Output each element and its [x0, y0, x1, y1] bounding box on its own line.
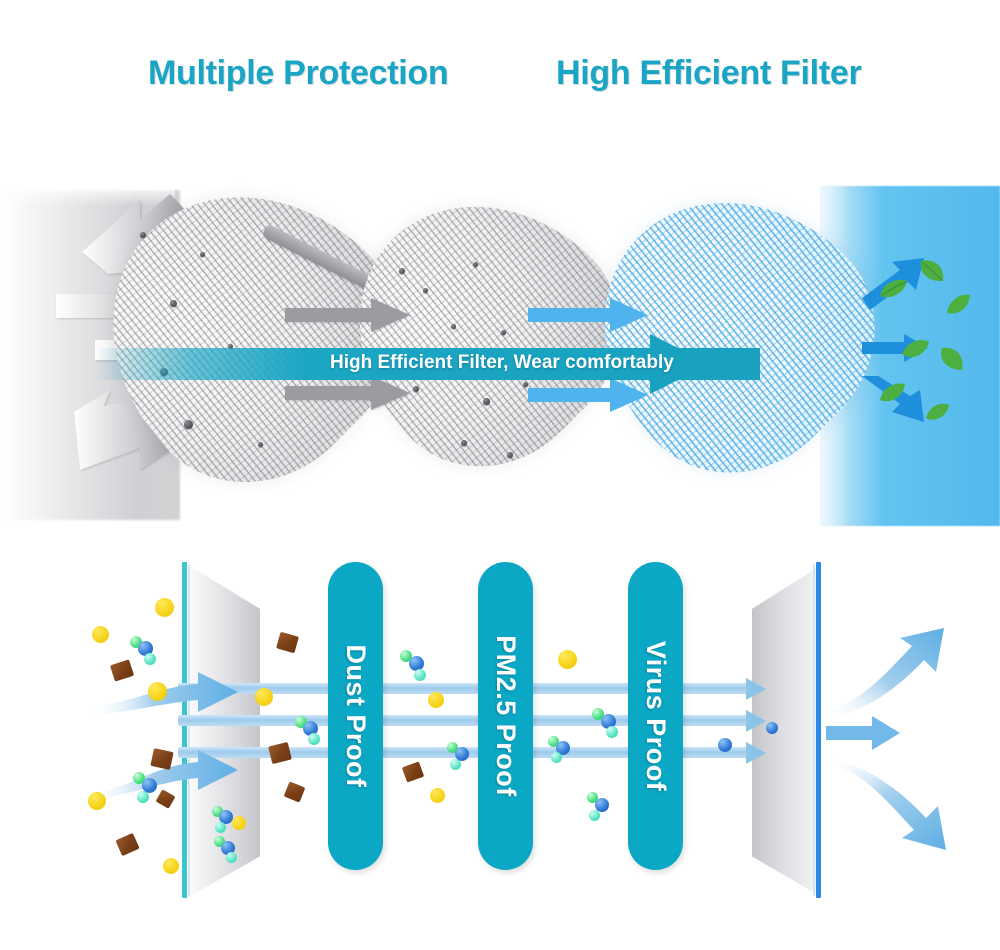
filtered-flow-arrow-upper — [528, 298, 648, 332]
right-glass-edge-highlight — [813, 564, 815, 896]
mask-cross-section-diagram: High Efficient Filter, Wear comfortably — [0, 150, 1000, 540]
filter-pill-dust-proof[interactable]: Dust Proof — [328, 562, 383, 870]
filter-pill-pm25-proof[interactable]: PM2.5 Proof — [478, 562, 533, 870]
pollen-particle — [558, 650, 577, 669]
midflow-arrow-upper — [285, 298, 410, 332]
particle — [507, 452, 513, 458]
flow-band-1-head — [746, 678, 766, 700]
virus-particle — [718, 738, 732, 752]
mask-layer-outer — [108, 192, 388, 472]
particle — [473, 262, 478, 267]
leaf-icon — [924, 402, 950, 424]
filter-banner: High Efficient Filter, Wear comfortably — [0, 340, 1000, 388]
left-glass-edge — [182, 562, 187, 898]
particle — [140, 232, 146, 238]
particle — [451, 324, 456, 329]
pollen-particle — [430, 788, 445, 803]
leaf-icon — [945, 293, 971, 317]
particle — [258, 442, 263, 447]
leaf-icon — [878, 278, 908, 300]
pollen-particle — [255, 688, 273, 706]
pollen-particle — [92, 626, 109, 643]
dust-particle — [115, 833, 139, 856]
pollen-particle — [163, 858, 179, 874]
pollen-particle — [88, 792, 106, 810]
particle — [461, 440, 467, 446]
pollen-particle — [155, 598, 174, 617]
filter-pill-label: PM2.5 Proof — [490, 635, 521, 797]
filter-barrier-diagram: Dust Proof PM2.5 Proof Virus Proof — [0, 540, 1000, 950]
pollen-particle — [232, 816, 246, 830]
particle — [184, 420, 193, 429]
heading-high-efficient-filter: High Efficient Filter — [556, 54, 861, 93]
outbound-clean-arrow-down — [826, 758, 956, 852]
outbound-clean-arrow-up — [826, 628, 956, 718]
filter-pill-label: Dust Proof — [340, 645, 371, 788]
left-glass-edge-highlight — [188, 564, 190, 896]
dust-particle — [268, 742, 292, 764]
flow-band-2-head — [746, 710, 766, 732]
particle — [483, 398, 490, 405]
dust-particle — [402, 761, 424, 782]
particle — [200, 252, 205, 257]
infographic-page: Multiple Protection High Efficient Filte… — [0, 0, 1000, 950]
dust-particle — [284, 781, 306, 802]
filter-pill-virus-proof[interactable]: Virus Proof — [628, 562, 683, 870]
virus-particle — [766, 722, 778, 734]
particle — [170, 300, 177, 307]
outbound-clean-arrow-right — [826, 716, 900, 750]
particle — [399, 268, 405, 274]
filter-pill-label: Virus Proof — [640, 641, 671, 792]
pollen-particle — [428, 692, 444, 708]
pollen-particle — [148, 682, 167, 701]
heading-multiple-protection: Multiple Protection — [148, 54, 448, 93]
dust-particle — [276, 632, 299, 654]
particle — [501, 330, 506, 335]
dust-particle — [150, 748, 173, 770]
particle — [423, 288, 428, 293]
leaf-icon — [918, 258, 946, 284]
filter-banner-label: High Efficient Filter, Wear comfortably — [330, 352, 674, 374]
flow-band-3-head — [746, 742, 766, 764]
right-glass-edge — [816, 562, 821, 898]
